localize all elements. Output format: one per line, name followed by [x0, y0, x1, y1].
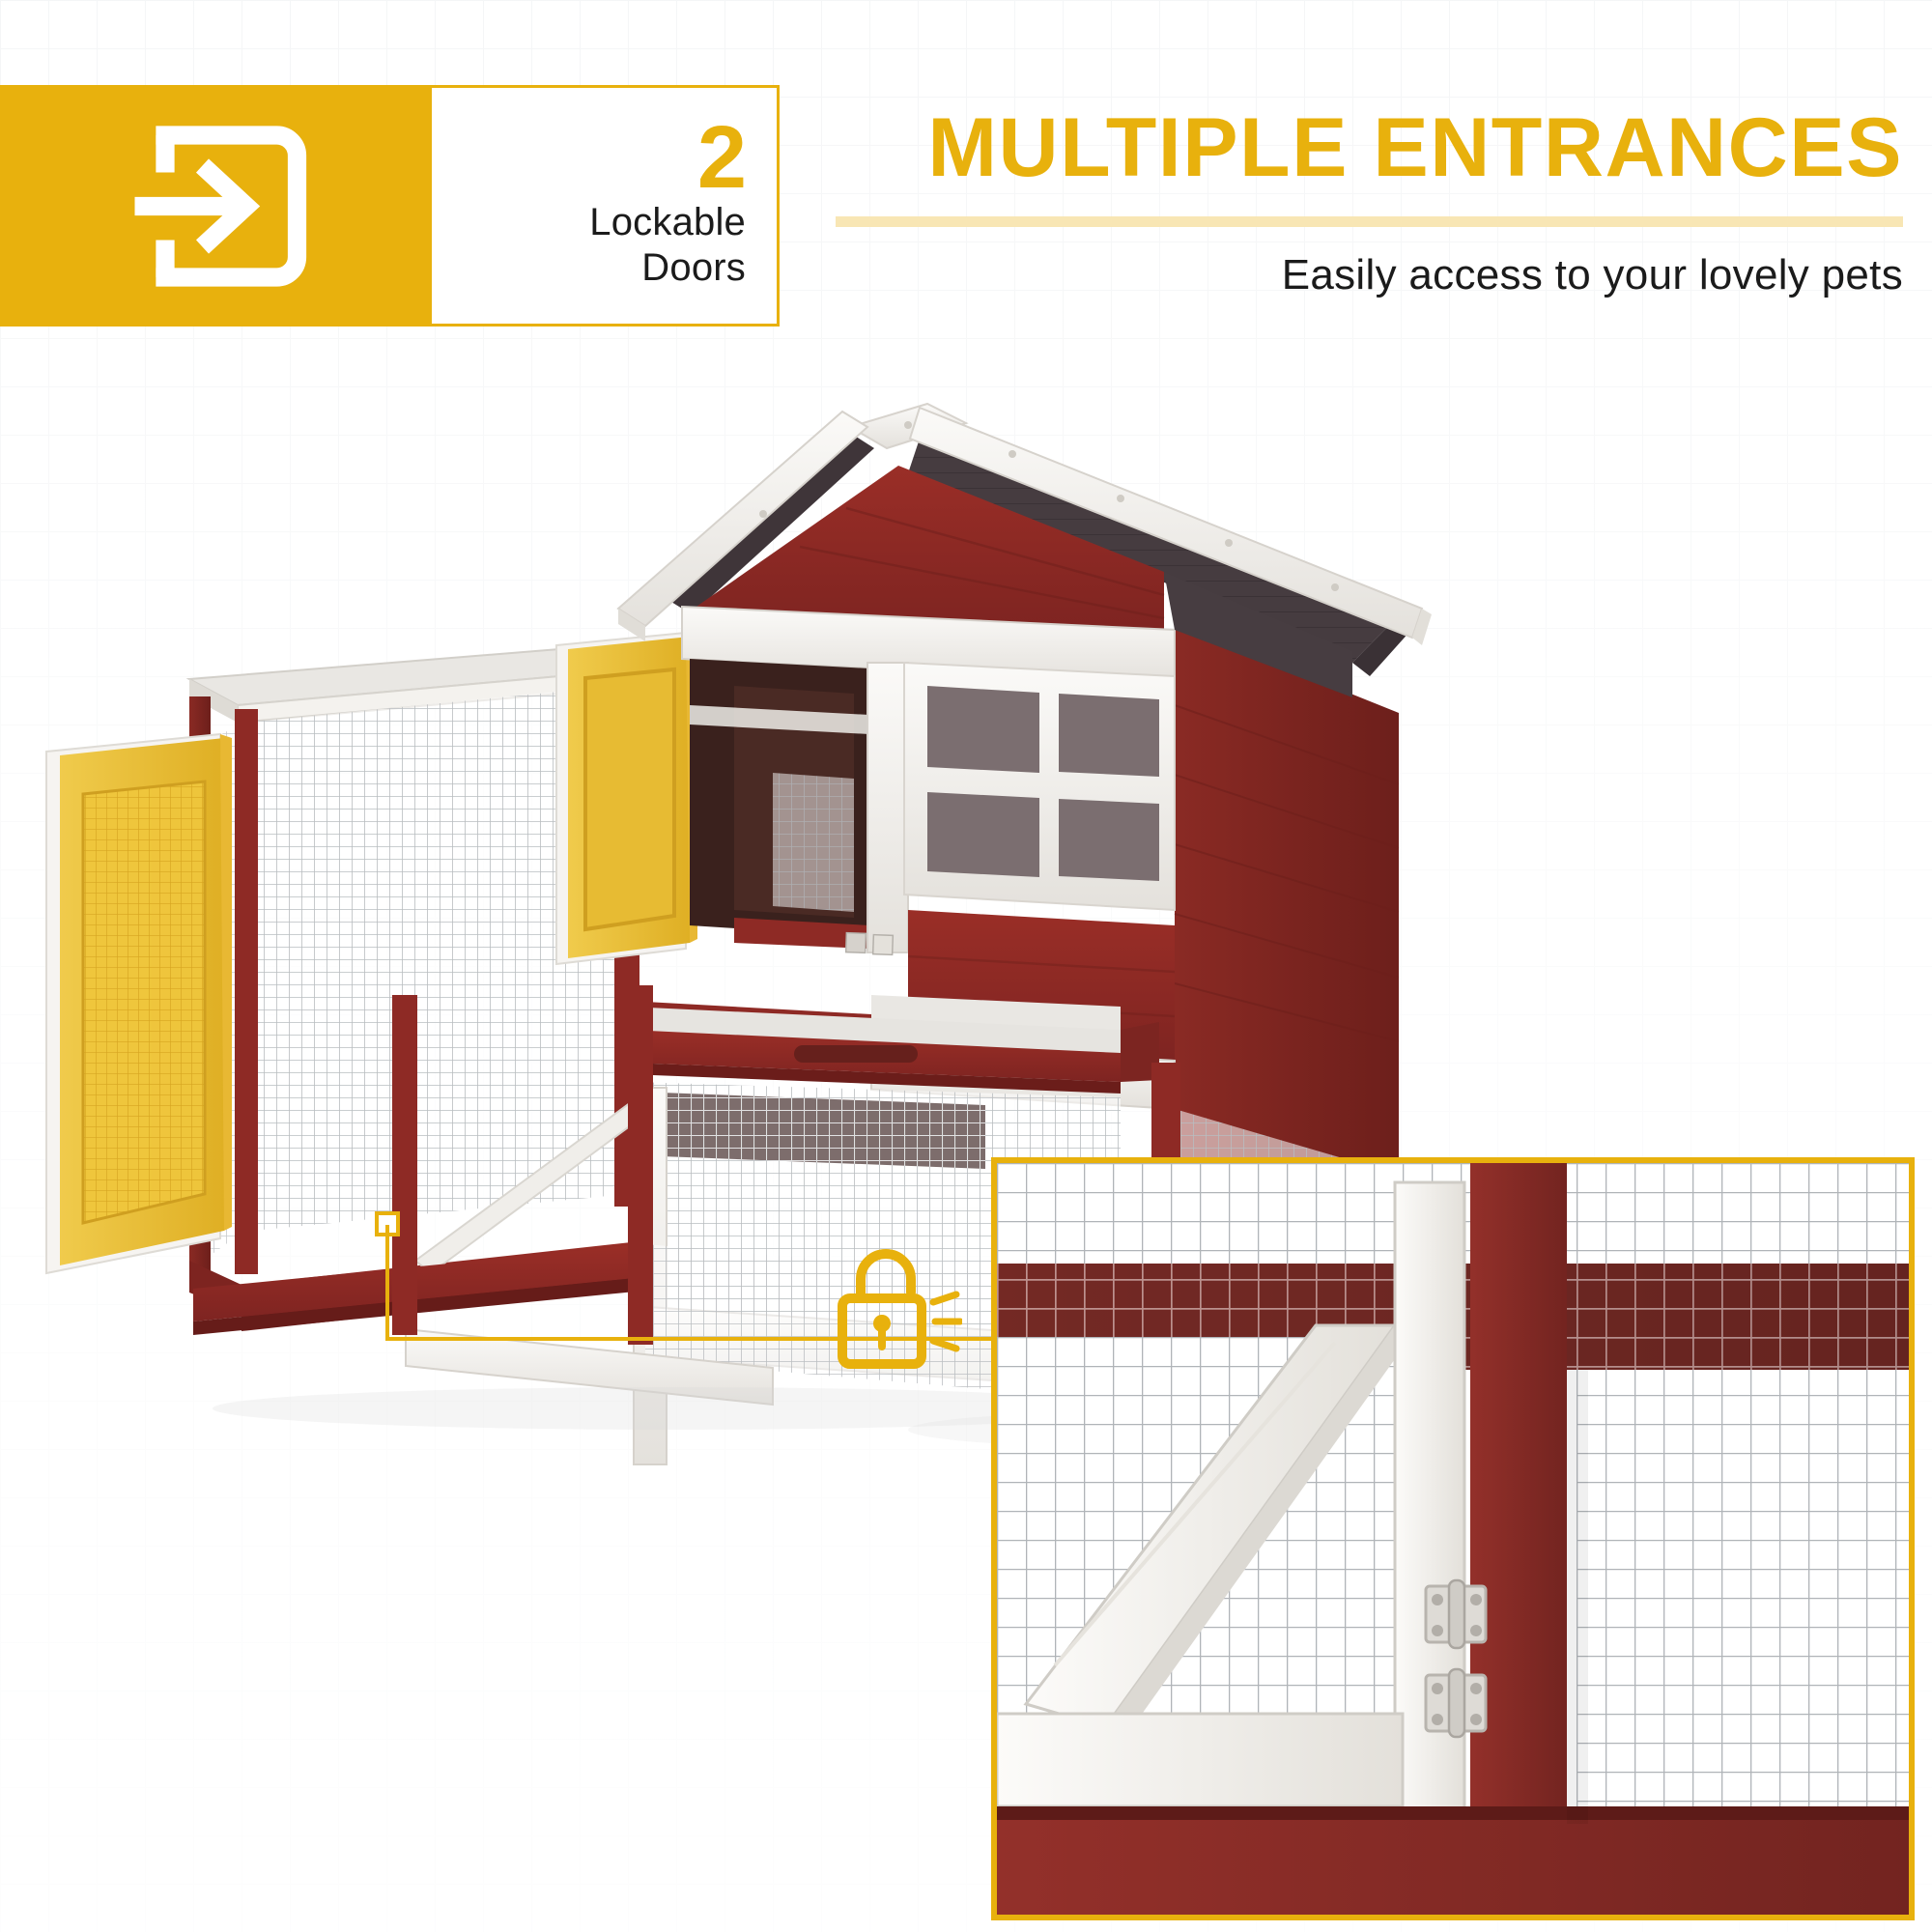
headline-block: MULTIPLE ENTRANCES Easily access to your… — [811, 106, 1903, 301]
page-title: MULTIPLE ENTRANCES — [927, 106, 1903, 189]
page-subtitle: Easily access to your lovely pets — [1282, 250, 1903, 301]
header-banner: 2 Lockable Doors MULTIPLE ENTRANCES Easi… — [0, 85, 1932, 327]
front-post-center — [867, 663, 908, 952]
tray-handle-slot — [794, 1045, 918, 1063]
doors-count-label-line2: Doors — [641, 246, 746, 289]
doors-count-label: Lockable Doors — [589, 200, 746, 291]
base-rail-red — [997, 1806, 1909, 1915]
door-hinge-detail-zoom — [991, 1157, 1915, 1920]
frame-post-red — [1470, 1163, 1567, 1859]
window-pane-3 — [927, 792, 1039, 877]
door-latch-marker — [375, 1211, 400, 1236]
door-stile — [1395, 1182, 1464, 1859]
run-front-post — [392, 995, 417, 1335]
window-pane-2 — [1059, 694, 1159, 777]
doors-count-number: 2 — [697, 117, 746, 199]
door-hinge-upper — [1426, 1580, 1486, 1648]
door-bottom-rail — [997, 1714, 1403, 1806]
lockable-doors-count: 2 Lockable Doors — [432, 85, 780, 327]
run-door-yellow-open — [46, 734, 232, 1273]
run-post-left-inner — [235, 709, 258, 1274]
headline-divider — [836, 216, 1903, 227]
hutch-door-inner-panel — [585, 669, 674, 929]
doors-count-label-line1: Lockable — [589, 201, 746, 243]
enter-door-arrow-icon — [113, 115, 319, 298]
window-pane-4 — [1059, 799, 1159, 881]
run-door-mesh — [83, 781, 205, 1223]
unlocked-padlock-icon — [829, 1238, 962, 1374]
feature-badge — [0, 85, 432, 327]
run-rear-post — [628, 985, 653, 1345]
door-hinge-lower — [1426, 1669, 1486, 1737]
front-window — [904, 655, 1175, 910]
window-pane-1 — [927, 686, 1039, 773]
